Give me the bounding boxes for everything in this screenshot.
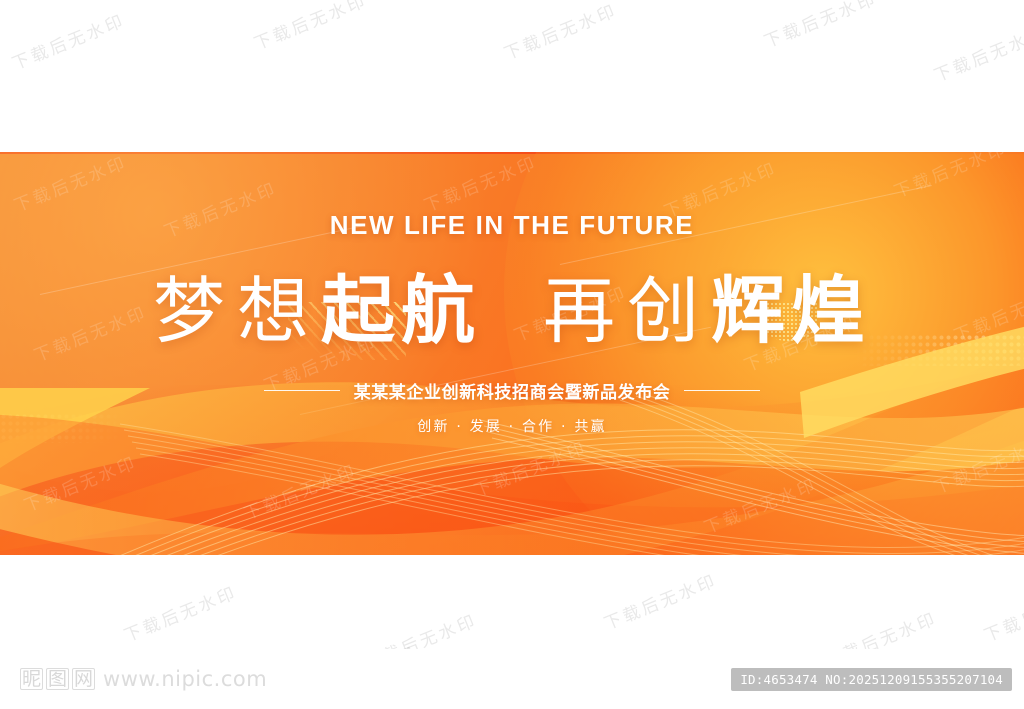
wave-ribbons-graphic [0, 152, 1024, 555]
watermark-text: 下载后无水印 [600, 566, 721, 634]
banner-eyebrow-text: NEW LIFE IN THE FUTURE [330, 210, 695, 241]
site-logo-char: 网 [72, 668, 95, 690]
banner-slogan-text: 创新 · 发展 · 合作 · 共赢 [417, 416, 606, 436]
halftone-circle-decoration [762, 302, 818, 348]
asset-id-badge: ID:4653474 NO:20251209155355207104 [731, 668, 1012, 691]
banner-headline: 梦想 起航 再创 辉煌 [153, 251, 871, 358]
dot-grid-right-decoration [854, 334, 1024, 366]
hairline-decoration [300, 327, 711, 415]
site-logo[interactable]: 昵图网 www.nipic.com [20, 667, 267, 691]
subtitle-rule-right [684, 390, 760, 391]
watermark-text: 下载后无水印 [500, 0, 621, 65]
site-logo-cn: 昵图网 [20, 668, 95, 690]
glow-top-left [0, 152, 500, 492]
banner-top-rule [0, 152, 1024, 154]
glow-bottom [0, 385, 1024, 555]
headline-part1-light: 梦想 [153, 252, 321, 357]
site-logo-char: 昵 [20, 668, 43, 690]
watermark-text: 下载后无水印 [980, 578, 1024, 646]
glow-right [504, 152, 1024, 555]
footer-bar: 昵图网 www.nipic.com ID:4653474 NO:20251209… [0, 649, 1024, 709]
watermark-text: 下载后无水印 [8, 6, 129, 74]
dot-grid-left-decoration [0, 413, 122, 443]
watermark-text: 下载后无水印 [760, 0, 881, 53]
banner-content: NEW LIFE IN THE FUTURE 梦想 起航 再创 辉煌 某某某企业… [0, 152, 1024, 555]
headline-part2-light: 再创 [543, 252, 711, 357]
banner-subtitle-text: 某某某企业创新科技招商会暨新品发布会 [354, 378, 671, 403]
hairline-decoration [560, 185, 932, 265]
site-logo-url: www.nipic.com [103, 667, 267, 691]
watermark-text: 下载后无水印 [120, 578, 241, 646]
watermark-text: 下载后无水印 [930, 18, 1024, 86]
subtitle-rule-left [264, 390, 340, 391]
banner-hero: NEW LIFE IN THE FUTURE 梦想 起航 再创 辉煌 某某某企业… [0, 152, 1024, 555]
headline-part1-bold: 起航 [321, 251, 481, 358]
diagonal-stripes-decoration [288, 302, 406, 360]
watermark-text: 下载后无水印 [250, 0, 371, 55]
headline-part2-bold: 辉煌 [711, 251, 871, 358]
site-logo-char: 图 [46, 668, 69, 690]
page-root: NEW LIFE IN THE FUTURE 梦想 起航 再创 辉煌 某某某企业… [0, 0, 1024, 709]
hairline-decoration [40, 225, 363, 295]
banner-subtitle-row: 某某某企业创新科技招商会暨新品发布会 [264, 378, 761, 403]
